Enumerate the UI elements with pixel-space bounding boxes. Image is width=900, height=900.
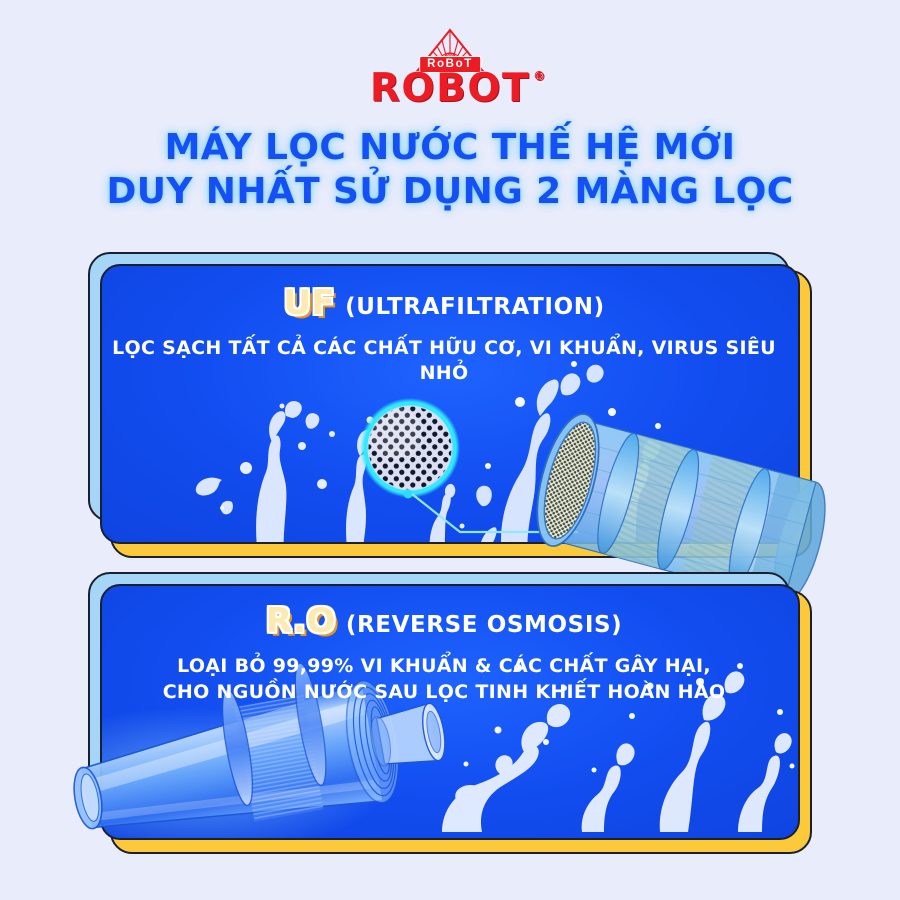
page-title: MÁY LỌC NƯỚC THẾ HỆ MỚI DUY NHẤT SỬ DỤNG…	[0, 126, 900, 215]
hollow-fiber-membrane-closeup-icon	[355, 393, 465, 503]
logo-wordmark: ROBOT ®	[370, 69, 530, 108]
page-title-line-2: DUY NHẤT SỬ DỤNG 2 MÀNG LỌC	[0, 170, 900, 214]
card-ro-tag-sub: (REVERSE OSMOSIS)	[346, 614, 622, 637]
water-splash-icon	[162, 376, 522, 542]
page-title-line-1: MÁY LỌC NƯỚC THẾ HỆ MỚI	[0, 126, 900, 170]
card-ro-tag: R.O	[266, 604, 336, 638]
card-ro-title: R.O (REVERSE OSMOSIS)	[88, 604, 800, 638]
card-uf-title: UF (ULTRAFILTRATION)	[88, 286, 800, 320]
membrane-glow	[102, 706, 392, 838]
infographic-canvas: RoBoT ROBOT ® MÁY LỌC NƯỚC THẾ HỆ MỚI DU…	[0, 0, 900, 900]
card-ro: R.O (REVERSE OSMOSIS) LOẠI BỎ 99,99% VI …	[88, 572, 800, 840]
registered-trademark-icon: ®	[533, 70, 545, 82]
card-uf-tag-sub: (ULTRAFILTRATION)	[345, 296, 605, 319]
card-uf-tag: UF	[283, 286, 335, 320]
brand-logo: RoBoT ROBOT ®	[0, 28, 900, 110]
card-ro-description-line-1: LOẠI BỎ 99,99% VI KHUẨN & CÁC CHẤT GÂY H…	[98, 654, 790, 679]
card-ro-description-line-2: CHO NGUỒN NƯỚC SAU LỌC TINH KHIẾT HOÀN H…	[98, 680, 790, 705]
card-uf-description: LỌC SẠCH TẤT CẢ CÁC CHẤT HỮU CƠ, VI KHUẨ…	[98, 336, 790, 387]
logo-wordmark-text: ROBOT	[370, 66, 530, 111]
card-uf: UF (ULTRAFILTRATION) LỌC SẠCH TẤT CẢ CÁC…	[88, 252, 800, 544]
